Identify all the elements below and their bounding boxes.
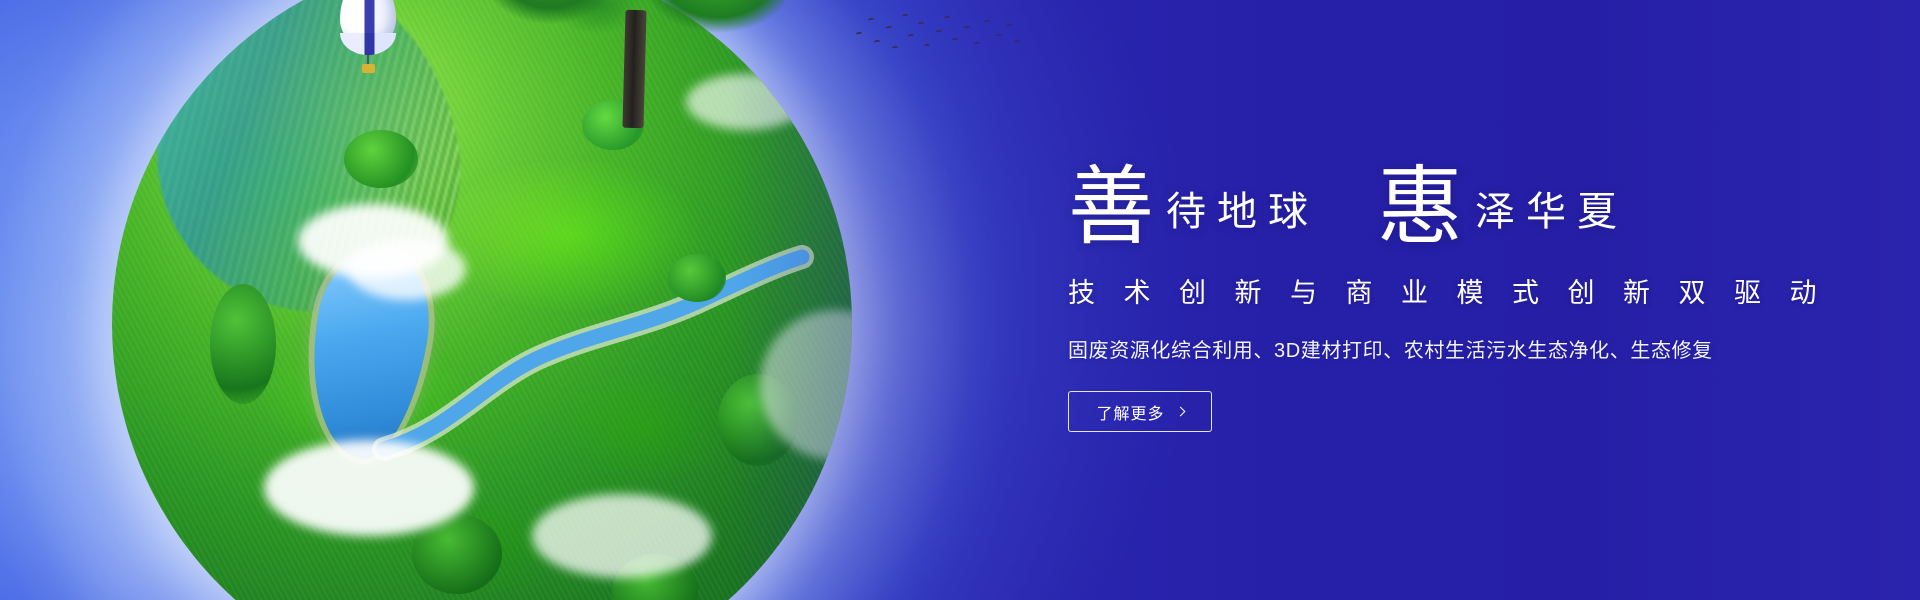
headline-lead-char-2: 惠 <box>1377 168 1463 247</box>
cloud-icon <box>348 238 466 300</box>
balloon-envelope <box>340 0 396 46</box>
headline-group-2: 惠 泽华夏 <box>1377 162 1628 241</box>
river-icon <box>378 235 808 475</box>
bush-icon <box>412 514 502 594</box>
hero-content: 善 待地球 惠 泽华夏 技 术 创 新 与 商 业 模 式 创 新 双 驱 动 … <box>1068 162 1768 432</box>
learn-more-button[interactable]: 了解更多 <box>1068 391 1212 432</box>
bush-icon <box>612 554 698 600</box>
page-subtitle: 技 术 创 新 与 商 业 模 式 创 新 双 驱 动 <box>1068 271 1768 310</box>
birds-icon <box>852 6 1022 56</box>
tree-icon <box>484 0 784 142</box>
learn-more-label: 了解更多 <box>1096 400 1164 424</box>
cloud-icon <box>532 494 712 578</box>
tree-trunk <box>622 10 646 129</box>
cloud-icon <box>298 204 448 278</box>
globe-illustration <box>112 0 852 600</box>
lake-icon <box>295 242 441 466</box>
page-title: 善 待地球 惠 泽华夏 <box>1068 162 1768 241</box>
hot-air-balloon-icon <box>340 0 400 82</box>
page-description: 固废资源化综合利用、3D建材打印、农村生活污水生态净化、生态修复 <box>1068 334 1768 363</box>
balloon-basket <box>362 64 375 73</box>
cloud-icon <box>760 310 852 460</box>
headline-rest-2: 泽华夏 <box>1475 192 1628 232</box>
bush-icon <box>668 254 726 302</box>
cloud-icon <box>264 440 474 536</box>
bush-icon <box>718 374 798 466</box>
headline-lead-char-1: 善 <box>1068 168 1154 247</box>
headline-rest-1: 待地球 <box>1166 192 1319 232</box>
headline-group-1: 善 待地球 <box>1068 162 1319 241</box>
bush-icon <box>344 130 418 188</box>
bush-icon <box>210 284 276 404</box>
hero-banner: 善 待地球 惠 泽华夏 技 术 创 新 与 商 业 模 式 创 新 双 驱 动 … <box>0 0 1920 600</box>
chevron-right-icon <box>1175 407 1185 417</box>
